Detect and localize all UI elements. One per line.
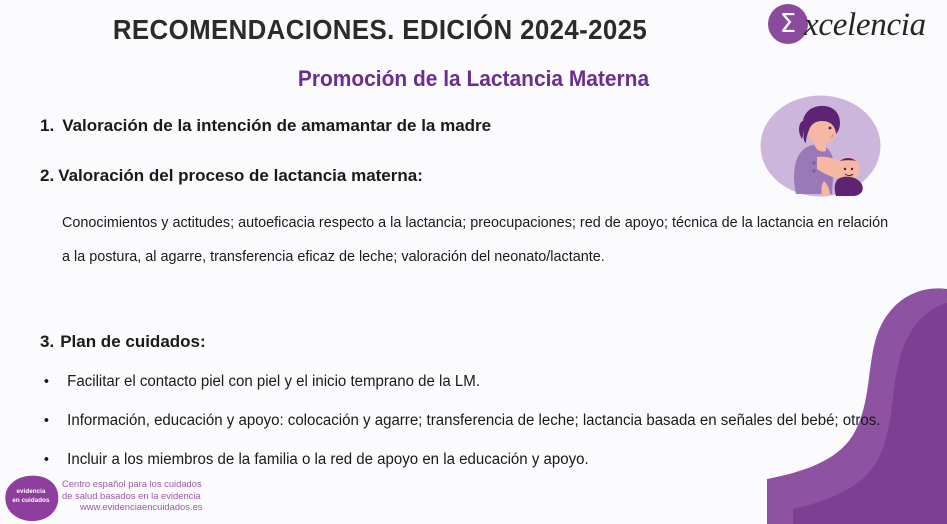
footer-line-1: Centro español para los cuidados xyxy=(62,478,202,490)
bullet-item: • Facilitar el contacto piel con piel y … xyxy=(40,364,903,399)
footer-line-2: de salud basados en la evidencia xyxy=(62,490,202,502)
plan-de-cuidados-bullets: • Facilitar el contacto piel con piel y … xyxy=(40,364,930,477)
bullet-text: Información, educación y apoyo: colocaci… xyxy=(67,412,880,429)
list-item-1-number: 1. xyxy=(40,116,54,135)
list-item-2-label: Valoración del proceso de lactancia mate… xyxy=(58,166,423,185)
list-item-2-paragraph: Conocimientos y actitudes; autoeficacia … xyxy=(62,206,890,274)
list-item-2-number: 2. xyxy=(40,166,54,185)
list-item-3-number: 3. xyxy=(40,332,54,351)
badge-line-2: en cuidados xyxy=(2,497,60,506)
footer-website-url[interactable]: www.evidenciaencuidados.es xyxy=(62,501,202,513)
sigma-icon: Σ xyxy=(768,4,808,44)
badge-text: evidencia en cuidados xyxy=(2,488,60,505)
bullet-marker-icon: • xyxy=(44,364,49,399)
breastfeeding-mother-icon xyxy=(760,95,881,197)
list-item-2: 2.Valoración del proceso de lactancia ma… xyxy=(40,166,423,186)
badge-line-1: evidencia xyxy=(2,488,60,497)
evidencia-en-cuidados-badge: evidencia en cuidados xyxy=(2,474,60,522)
bullet-marker-icon: • xyxy=(44,403,49,438)
list-item-1-label: Valoración de la intención de amamantar … xyxy=(62,116,491,135)
page-subtitle: Promoción de la Lactancia Materna xyxy=(33,66,914,92)
footer-organization-text: Centro español para los cuidados de salu… xyxy=(62,478,202,513)
bullet-item: • Información, educación y apoyo: coloca… xyxy=(40,403,921,438)
slide-canvas: RECOMENDACIONES. EDICIÓN 2024-2025 Promo… xyxy=(0,0,947,524)
bullet-text: Incluir a los miembros de la familia o l… xyxy=(67,451,589,468)
slide-footer: evidencia en cuidados Centro español par… xyxy=(0,472,300,524)
list-item-3-label: Plan de cuidados: xyxy=(60,332,205,351)
bullet-text: Facilitar el contacto piel con piel y el… xyxy=(67,373,480,390)
list-item-3: 3.Plan de cuidados: xyxy=(40,332,206,352)
excelencia-logo-text: xcelencia xyxy=(804,9,926,42)
list-item-1: 1.Valoración de la intención de amamanta… xyxy=(40,116,491,136)
excelencia-logo: Σ xcelencia xyxy=(768,2,947,46)
page-title: RECOMENDACIONES. EDICIÓN 2024-2025 xyxy=(23,14,737,46)
